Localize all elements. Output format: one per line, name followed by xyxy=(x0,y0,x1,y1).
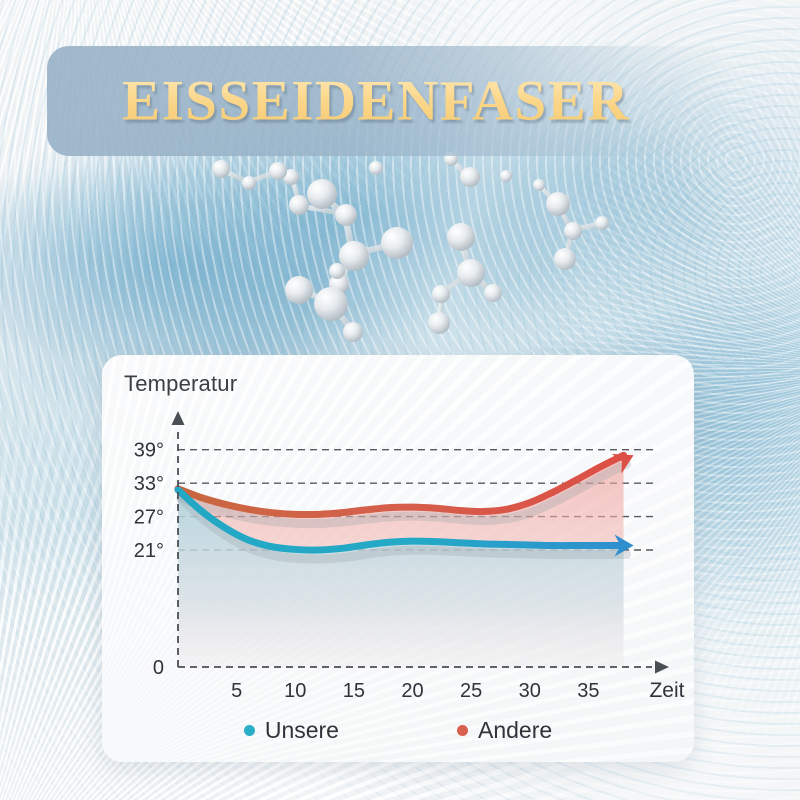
legend-label-unsere: Unsere xyxy=(265,717,339,744)
chart-axis-title-x: Zeit xyxy=(649,679,684,702)
temperature-chart-card: Temperatur xyxy=(102,355,694,762)
x-tick-label-25: 25 xyxy=(460,680,482,702)
legend-dot-icon-andere xyxy=(457,725,468,736)
y-tick-label-33: 33° xyxy=(134,473,164,495)
y-tick-label-21: 21° xyxy=(134,540,164,562)
x-tick-label-30: 30 xyxy=(519,680,541,702)
legend-item-unsere[interactable]: Unsere xyxy=(244,717,339,744)
y-tick-label-0: 0 xyxy=(153,657,164,679)
x-tick-label-5: 5 xyxy=(231,680,242,702)
y-tick-label-27: 27° xyxy=(134,507,164,529)
y-tick-label-39: 39° xyxy=(134,440,164,462)
x-tick-label-20: 20 xyxy=(401,680,423,702)
x-axis-arrow-head-icon xyxy=(655,661,669,674)
legend-dot-icon-unsere xyxy=(244,725,255,736)
legend-label-andere: Andere xyxy=(478,717,552,744)
x-tick-label-35: 35 xyxy=(577,680,599,702)
page-title: EISSEIDENFASER xyxy=(47,69,731,134)
temperature-line-chart: 021°27°33°39°5101520253035Zeit xyxy=(102,355,694,762)
x-tick-label-10: 10 xyxy=(284,680,306,702)
legend-item-andere[interactable]: Andere xyxy=(457,717,552,744)
y-axis-arrow-head-icon xyxy=(172,411,185,425)
x-tick-label-15: 15 xyxy=(343,680,365,702)
title-banner: EISSEIDENFASER xyxy=(47,46,731,156)
promo-image-canvas: EISSEIDENFASER Temperatur xyxy=(0,0,800,800)
chart-legend: Unsere Andere xyxy=(102,717,694,744)
